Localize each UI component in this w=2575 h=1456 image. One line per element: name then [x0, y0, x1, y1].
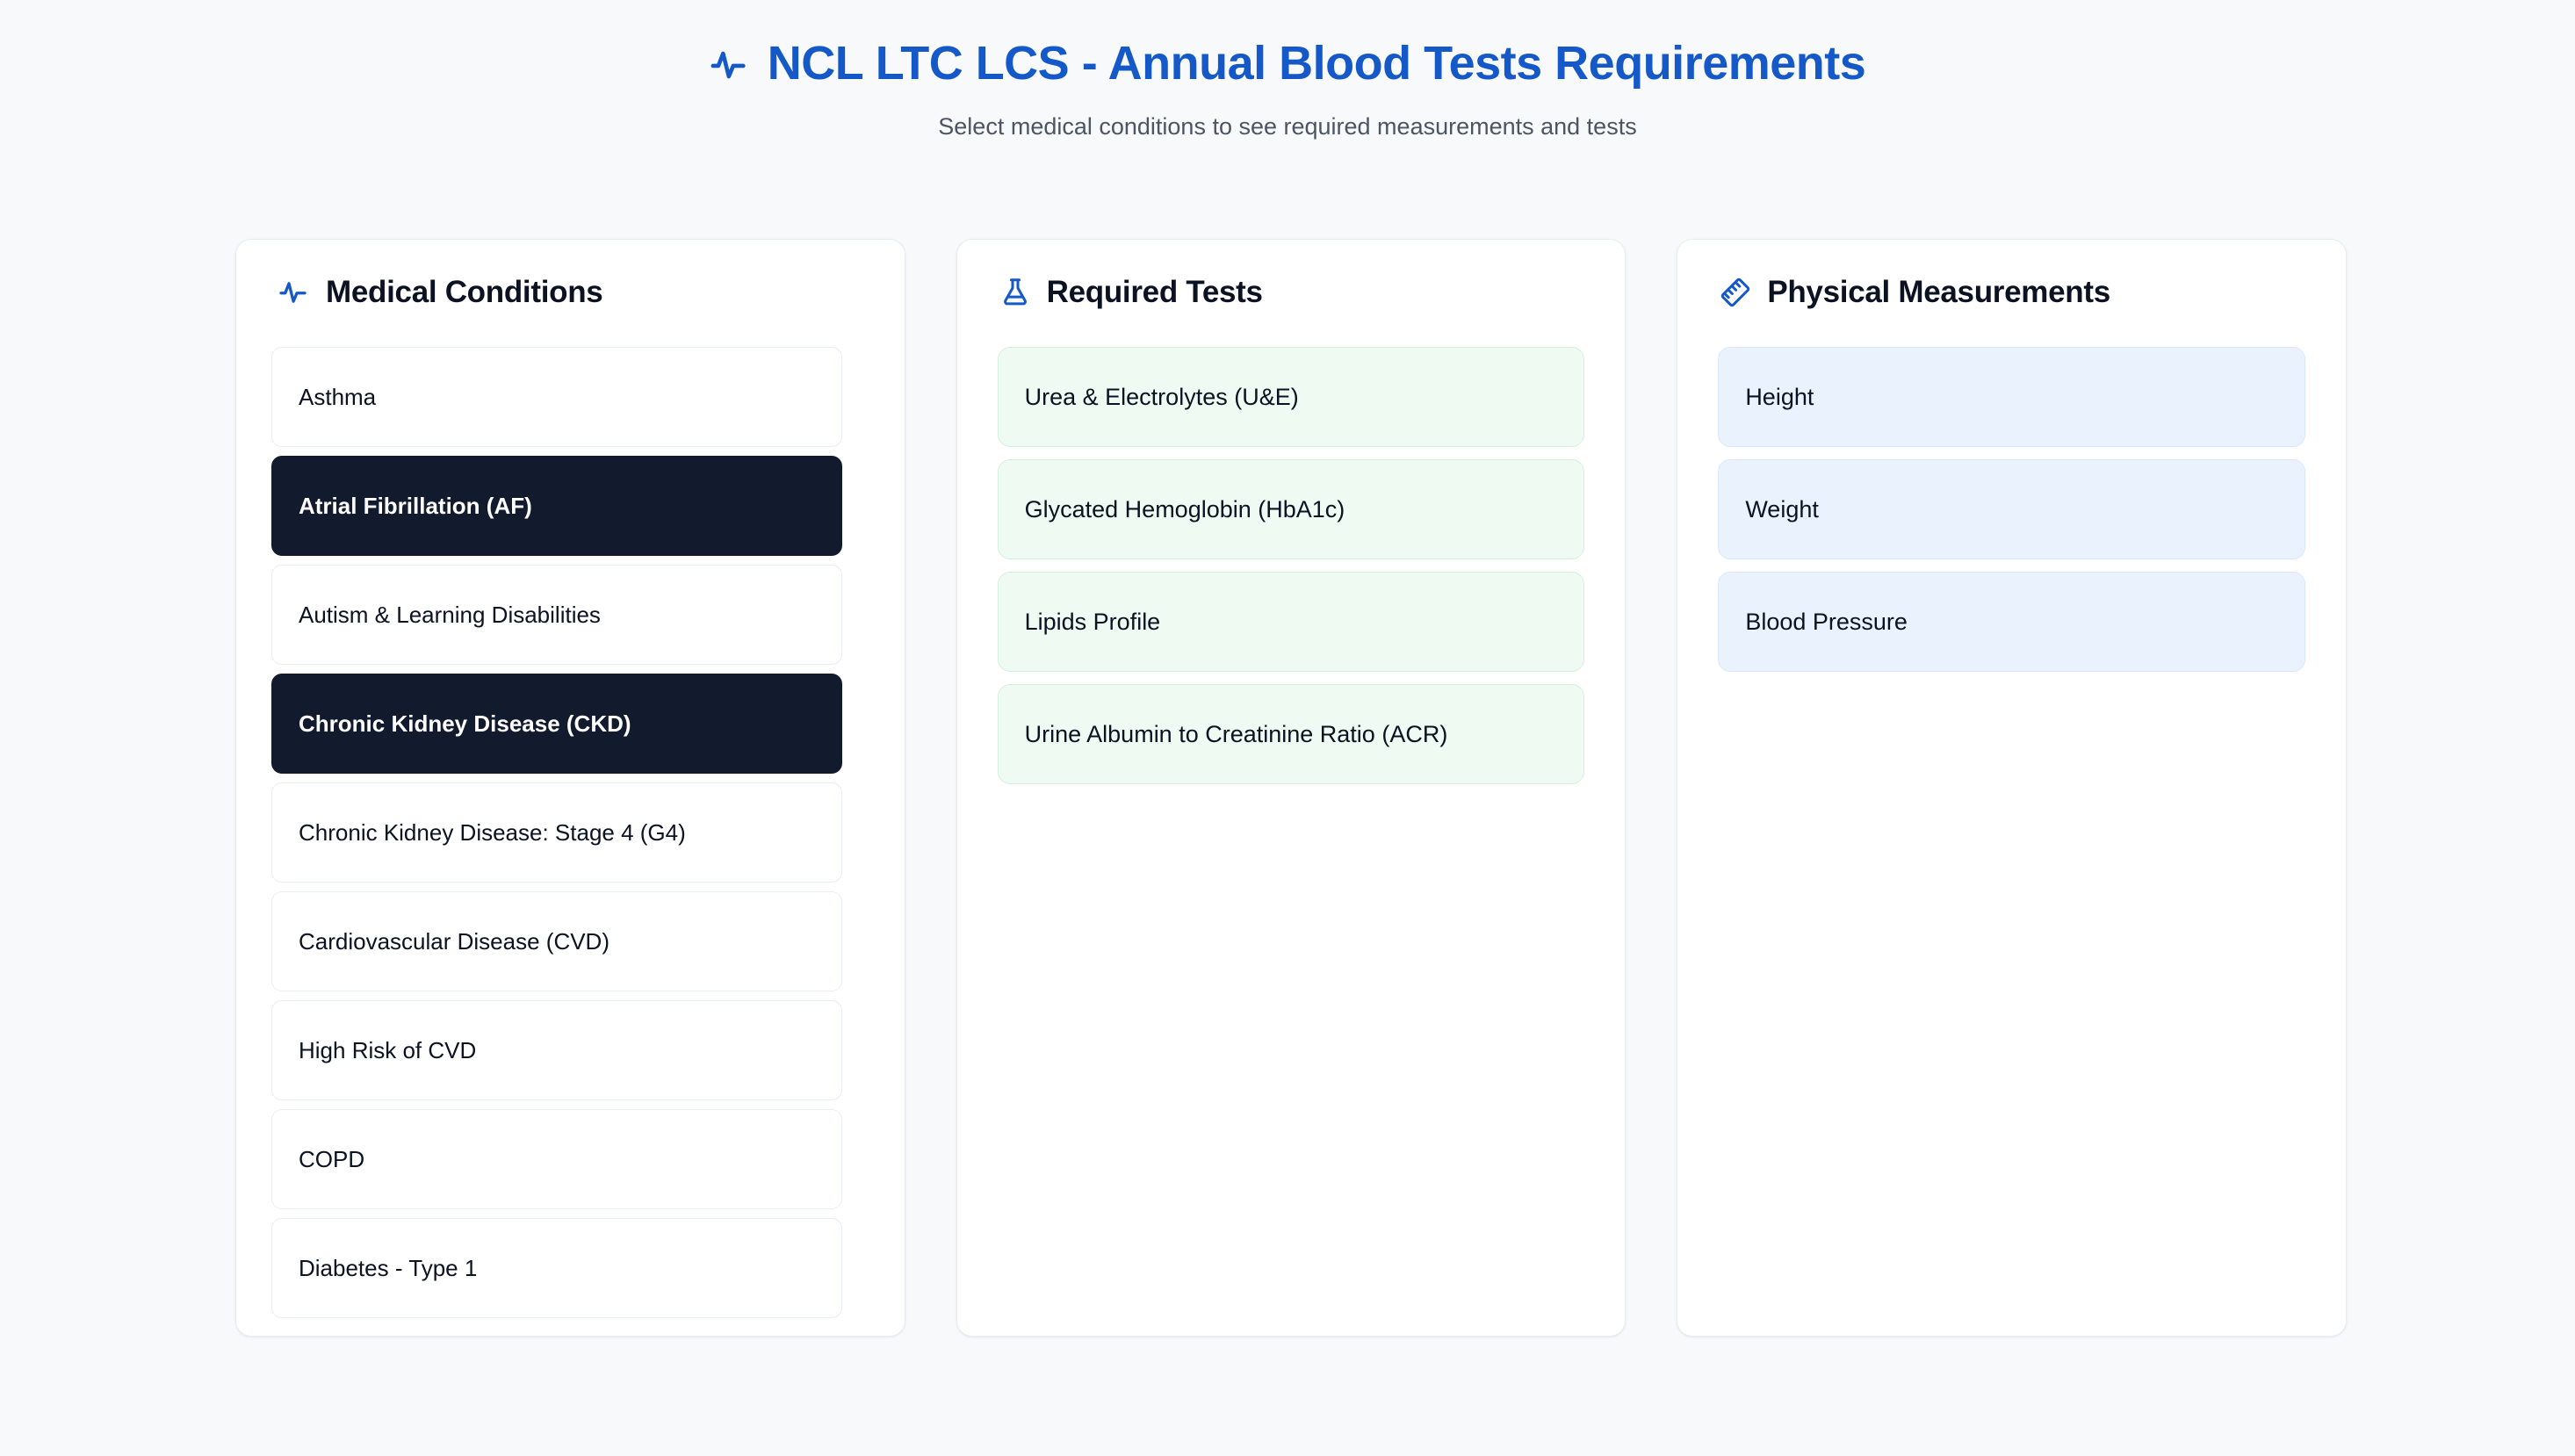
page-title: NCL LTC LCS - Annual Blood Tests Require… — [768, 39, 1866, 89]
condition-label: Chronic Kidney Disease: Stage 4 (G4) — [299, 819, 686, 847]
measurement-item-blood-pressure: Blood Pressure — [1718, 572, 2305, 672]
panel-header-tests: Required Tests — [991, 275, 1592, 310]
condition-item-autism-learning-disabilities[interactable]: Autism & Learning Disabilities — [271, 565, 842, 665]
condition-label: Asthma — [299, 384, 376, 411]
flask-icon — [999, 277, 1031, 308]
condition-label: Autism & Learning Disabilities — [299, 602, 601, 629]
test-label: Glycated Hemoglobin (HbA1c) — [1025, 496, 1345, 523]
condition-label: Diabetes - Type 1 — [299, 1255, 477, 1282]
condition-item-copd[interactable]: COPD — [271, 1109, 842, 1209]
test-item-glycated-hemoglobin: Glycated Hemoglobin (HbA1c) — [998, 459, 1585, 559]
condition-label: High Risk of CVD — [299, 1037, 476, 1064]
condition-label: Cardiovascular Disease (CVD) — [299, 928, 609, 955]
test-label: Lipids Profile — [1025, 609, 1161, 636]
app-page: NCL LTC LCS - Annual Blood Tests Require… — [0, 0, 2575, 1456]
panel-header-measurements: Physical Measurements — [1711, 275, 2312, 310]
condition-label: Chronic Kidney Disease (CKD) — [299, 710, 631, 738]
condition-label: Atrial Fibrillation (AF) — [299, 493, 532, 520]
panel-physical-measurements: Physical Measurements Height Weight Bloo… — [1677, 239, 2347, 1337]
test-label: Urea & Electrolytes (U&E) — [1025, 384, 1299, 411]
condition-item-cardiovascular-disease[interactable]: Cardiovascular Disease (CVD) — [271, 891, 842, 991]
test-item-urea-electrolytes: Urea & Electrolytes (U&E) — [998, 347, 1585, 447]
panel-required-tests: Required Tests Urea & Electrolytes (U&E)… — [956, 239, 1627, 1337]
test-item-urine-acr: Urine Albumin to Creatinine Ratio (ACR) — [998, 684, 1585, 784]
ruler-icon — [1720, 277, 1751, 308]
panel-title-tests: Required Tests — [1047, 275, 1263, 310]
condition-item-chronic-kidney-disease[interactable]: Chronic Kidney Disease (CKD) — [271, 674, 842, 774]
activity-pulse-icon — [278, 277, 310, 308]
panel-medical-conditions: Medical Conditions Asthma Atrial Fibrill… — [235, 239, 905, 1337]
condition-item-atrial-fibrillation[interactable]: Atrial Fibrillation (AF) — [271, 456, 842, 556]
measurement-label: Blood Pressure — [1745, 609, 1908, 636]
measurement-label: Height — [1745, 384, 1814, 411]
panels-row: Medical Conditions Asthma Atrial Fibrill… — [235, 239, 2347, 1337]
panel-title-measurements: Physical Measurements — [1767, 275, 2110, 310]
title-row: NCL LTC LCS - Annual Blood Tests Require… — [0, 39, 2575, 89]
condition-label: COPD — [299, 1146, 364, 1173]
condition-item-high-risk-cvd[interactable]: High Risk of CVD — [271, 1000, 842, 1100]
conditions-list[interactable]: Asthma Atrial Fibrillation (AF) Autism &… — [271, 347, 842, 1318]
tests-list: Urea & Electrolytes (U&E) Glycated Hemog… — [991, 347, 1592, 784]
app-header: NCL LTC LCS - Annual Blood Tests Require… — [0, 0, 2575, 141]
panel-header-conditions: Medical Conditions — [270, 275, 905, 310]
condition-item-asthma[interactable]: Asthma — [271, 347, 842, 447]
test-item-lipids-profile: Lipids Profile — [998, 572, 1585, 672]
activity-pulse-icon — [710, 45, 750, 85]
condition-item-diabetes-type-1[interactable]: Diabetes - Type 1 — [271, 1218, 842, 1318]
panel-title-conditions: Medical Conditions — [326, 275, 602, 310]
measurements-list: Height Weight Blood Pressure — [1711, 347, 2312, 672]
measurement-item-height: Height — [1718, 347, 2305, 447]
condition-item-ckd-stage-4[interactable]: Chronic Kidney Disease: Stage 4 (G4) — [271, 782, 842, 883]
page-subtitle: Select medical conditions to see require… — [0, 113, 2575, 141]
measurement-label: Weight — [1745, 496, 1819, 523]
measurement-item-weight: Weight — [1718, 459, 2305, 559]
test-label: Urine Albumin to Creatinine Ratio (ACR) — [1025, 721, 1448, 748]
